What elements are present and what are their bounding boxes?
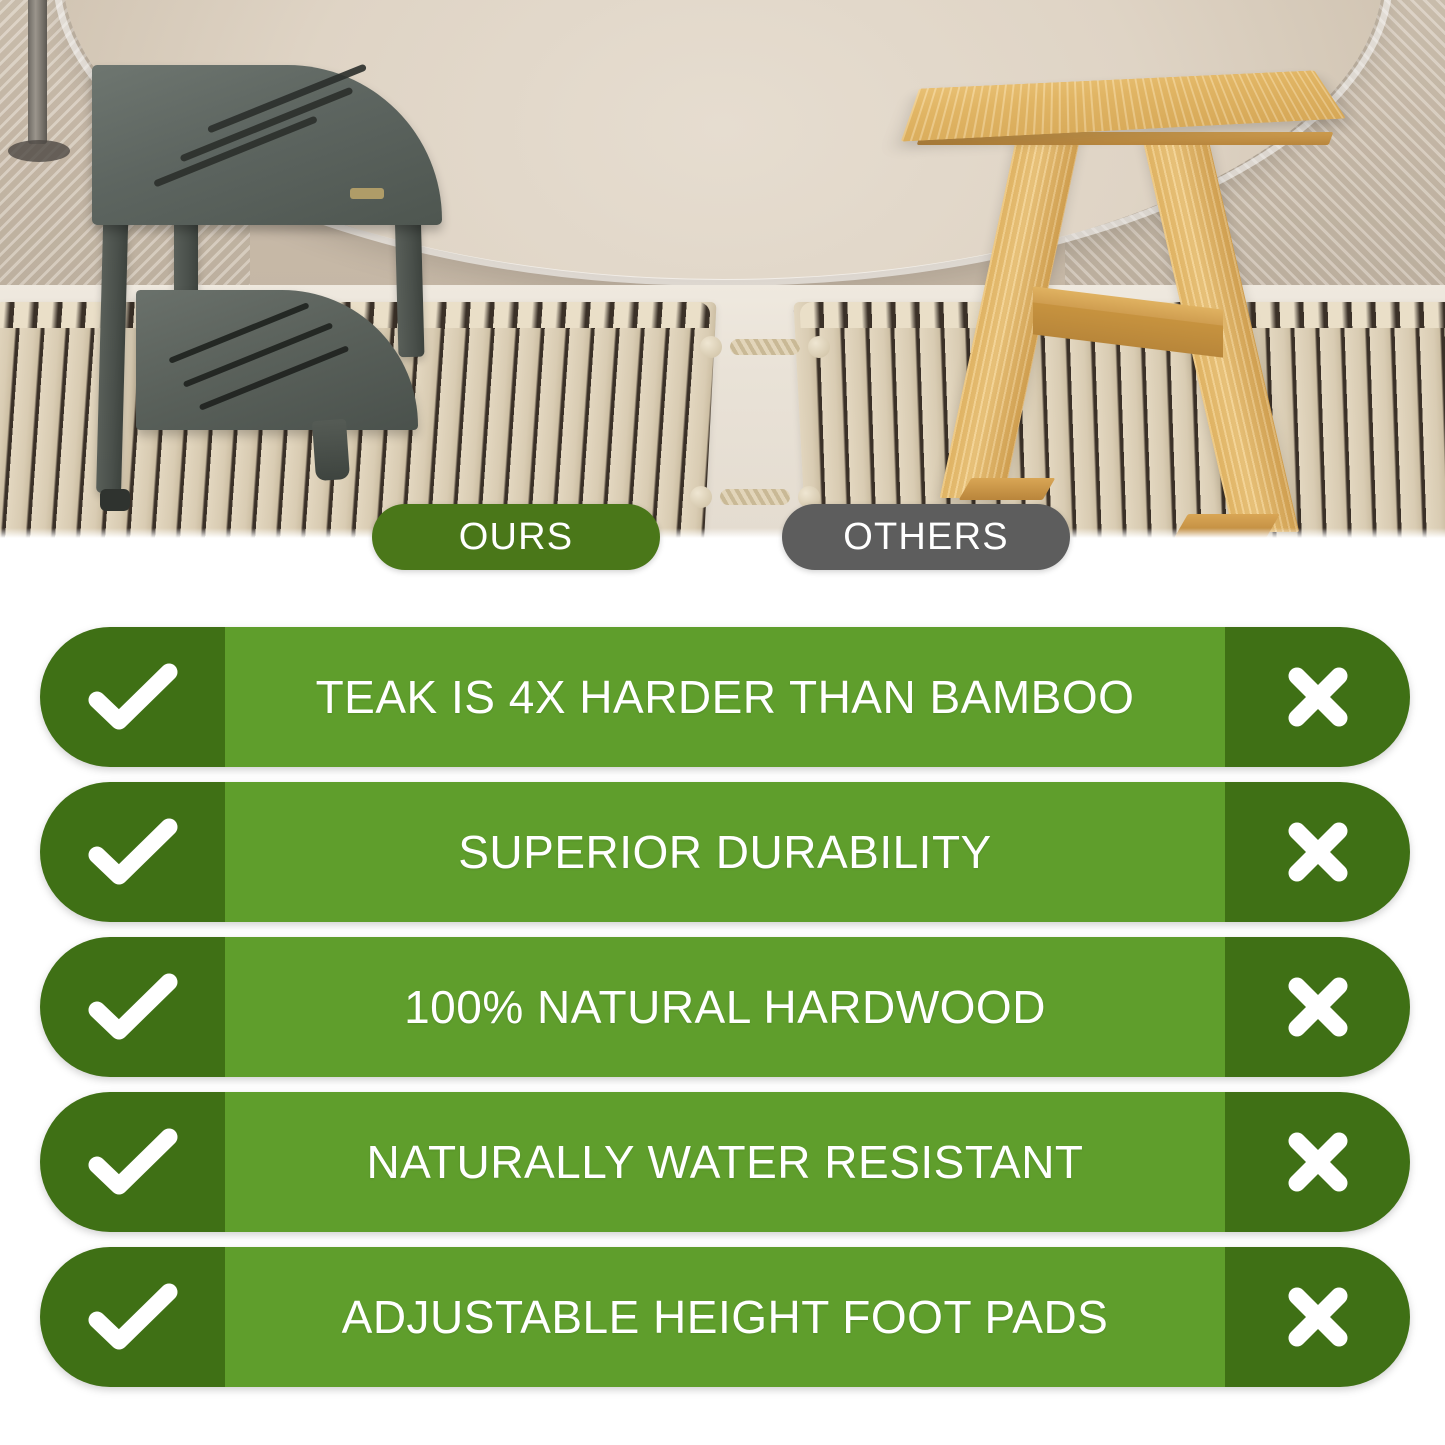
rope-bead [700,336,722,358]
bench-lower-shelf [136,290,418,430]
product-grey-teak-corner-bench [84,45,464,538]
mat-rope-joiner-bottom [690,486,820,506]
comparison-row: ADJUSTABLE HEIGHT FOOT PADS [40,1247,1410,1387]
x-icon [1282,971,1354,1043]
badge-ours-label: OURS [459,516,574,559]
x-icon [1282,1126,1354,1198]
ours-cell [40,1247,225,1387]
feature-label: TEAK IS 4X HARDER THAN BAMBOO [225,627,1225,767]
ours-cell [40,627,225,767]
rope-bead [808,336,830,358]
x-icon [1282,1281,1354,1353]
comparison-row: NATURALLY WATER RESISTANT [40,1092,1410,1232]
comparison-row: 100% NATURAL HARDWOOD [40,937,1410,1077]
product-bamboo-a-frame-stool [905,28,1375,538]
seat-slat [179,87,353,163]
check-icon [85,658,181,736]
x-icon [1282,816,1354,888]
others-cell [1225,627,1410,767]
seat-slat [207,63,367,133]
ours-cell [40,782,225,922]
shower-pipe [28,0,47,144]
photo-bottom-fade [0,528,1445,538]
shelf-slat [199,345,350,411]
rope-bead [690,486,712,508]
bench-foot-pad [100,489,130,511]
feature-label: SUPERIOR DURABILITY [225,782,1225,922]
shelf-slat [183,322,334,388]
bench-seat-top [92,65,442,225]
bamboo-grain [901,70,1346,141]
feature-label: NATURALLY WATER RESISTANT [225,1092,1225,1232]
rope-knot [730,339,800,355]
others-cell [1225,782,1410,922]
comparison-table: TEAK IS 4X HARDER THAN BAMBOO SUPERIOR D… [40,627,1410,1402]
seat-slat [153,115,318,187]
badge-others-label: OTHERS [843,516,1009,559]
shower-pipe-base [8,140,70,162]
stool-seat-top [901,70,1346,141]
check-icon [85,813,181,891]
others-cell [1225,1092,1410,1232]
mat-rope-joiner-top [700,336,830,356]
check-icon [85,1123,181,1201]
feature-label: 100% NATURAL HARDWOOD [225,937,1225,1077]
brand-badge [350,188,384,199]
others-cell [1225,937,1410,1077]
check-icon [85,1278,181,1356]
comparison-row: SUPERIOR DURABILITY [40,782,1410,922]
feature-label: ADJUSTABLE HEIGHT FOOT PADS [225,1247,1225,1387]
check-icon [85,968,181,1046]
x-icon [1282,661,1354,733]
ours-cell [40,937,225,1077]
shelf-slat [168,302,309,364]
badge-others: OTHERS [782,504,1070,570]
others-cell [1225,1247,1410,1387]
rope-knot [720,489,790,505]
badge-ours: OURS [372,504,660,570]
bench-front-foot [312,419,350,481]
bench-leg [96,193,129,494]
comparison-row: TEAK IS 4X HARDER THAN BAMBOO [40,627,1410,767]
ours-cell [40,1092,225,1232]
stool-foot [959,478,1056,500]
hero-product-photo [0,0,1445,538]
